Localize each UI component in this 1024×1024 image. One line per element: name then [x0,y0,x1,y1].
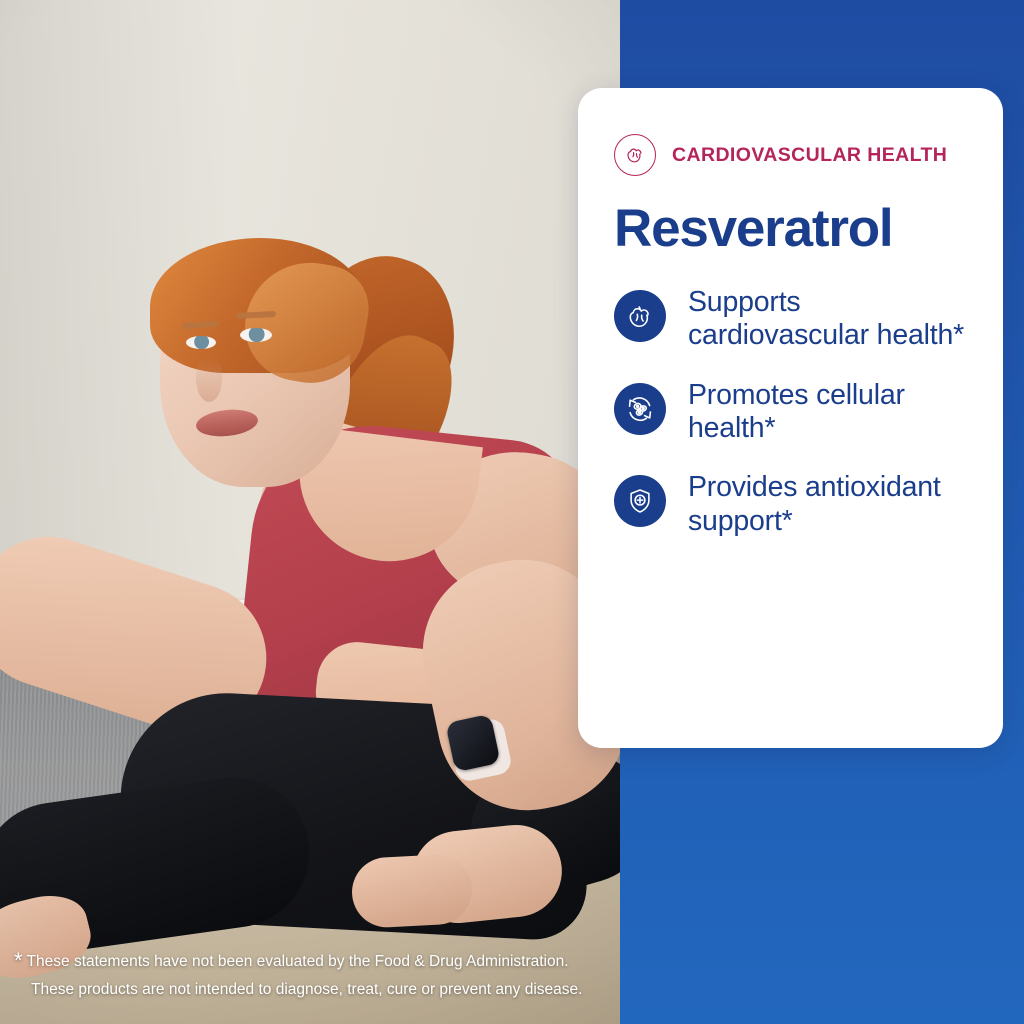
cells-cycle-icon [614,383,666,435]
heart-icon [614,134,656,176]
promo-image: CARDIOVASCULAR HEALTH Resveratrol [0,0,1024,1024]
category-label: CARDIOVASCULAR HEALTH [672,144,947,167]
lifestyle-photo [0,0,622,1024]
benefit-label: Promotes cellular health* [688,379,969,446]
disclaimer-line-2: These products are not intended to diagn… [14,978,614,1002]
page-title: Resveratrol [614,202,969,256]
benefits-card: CARDIOVASCULAR HEALTH Resveratrol [578,88,1003,748]
benefit-item-cardiovascular: Supports cardiovascular health* [614,286,969,353]
benefit-label: Supports cardiovascular health* [688,286,969,353]
photo-vignette [0,0,622,1024]
fda-disclaimer: *These statements have not been evaluate… [14,944,614,1002]
benefit-label: Provides antioxidant support* [688,471,969,538]
category-eyebrow: CARDIOVASCULAR HEALTH [614,134,969,176]
asterisk-marker: * [14,948,23,973]
disclaimer-line-1: These statements have not been evaluated… [27,953,569,970]
benefit-item-cellular: Promotes cellular health* [614,379,969,446]
benefit-item-antioxidant: Provides antioxidant support* [614,471,969,538]
shield-cross-icon [614,475,666,527]
benefits-list: Supports cardiovascular health* [614,286,969,538]
heart-icon [614,290,666,342]
